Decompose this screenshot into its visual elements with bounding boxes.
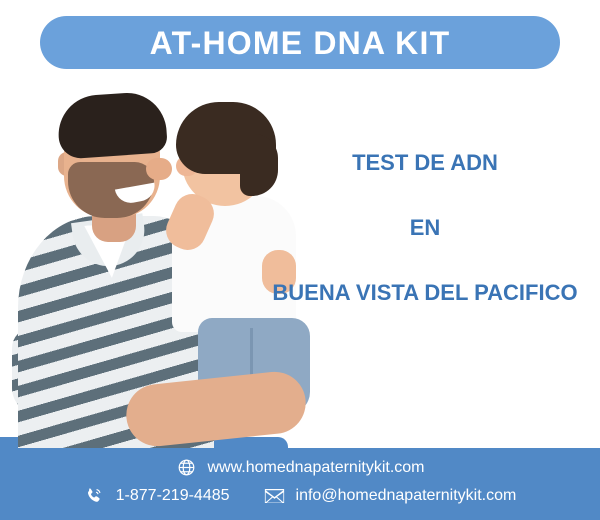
copy-line-3: BUENA VISTA DEL PACIFICO	[250, 282, 600, 304]
promo-copy: TEST DE ADN EN BUENA VISTA DEL PACIFICO	[250, 152, 600, 304]
footer-row-phone-email: 1-877-219-4485 info@homednapaternitykit.…	[0, 485, 600, 506]
footer-phone-label: 1-877-219-4485	[116, 488, 230, 504]
footer-website-item[interactable]: www.homednapaternitykit.com	[176, 457, 425, 478]
copy-line-2: EN	[250, 217, 600, 239]
man-nose	[146, 158, 172, 180]
man-hair	[56, 90, 168, 159]
footer-phone-item[interactable]: 1-877-219-4485	[84, 485, 230, 506]
footer-email-item[interactable]: info@homednapaternitykit.com	[264, 485, 517, 506]
phone-icon	[84, 485, 105, 506]
footer-contact-bar: www.homednapaternitykit.com 1-877-219-44…	[0, 448, 600, 520]
footer-row-website: www.homednapaternitykit.com	[0, 457, 600, 478]
page-title: AT-HOME DNA KIT	[150, 27, 451, 59]
globe-icon	[176, 457, 197, 478]
footer-website-label: www.homednapaternitykit.com	[208, 460, 425, 476]
dna-kit-promo-banner: AT-HOME DNA KIT TE	[0, 0, 600, 520]
copy-line-1: TEST DE ADN	[250, 152, 600, 174]
footer-email-label: info@homednapaternitykit.com	[296, 488, 517, 504]
envelope-icon	[264, 485, 285, 506]
header-pill: AT-HOME DNA KIT	[40, 16, 560, 69]
